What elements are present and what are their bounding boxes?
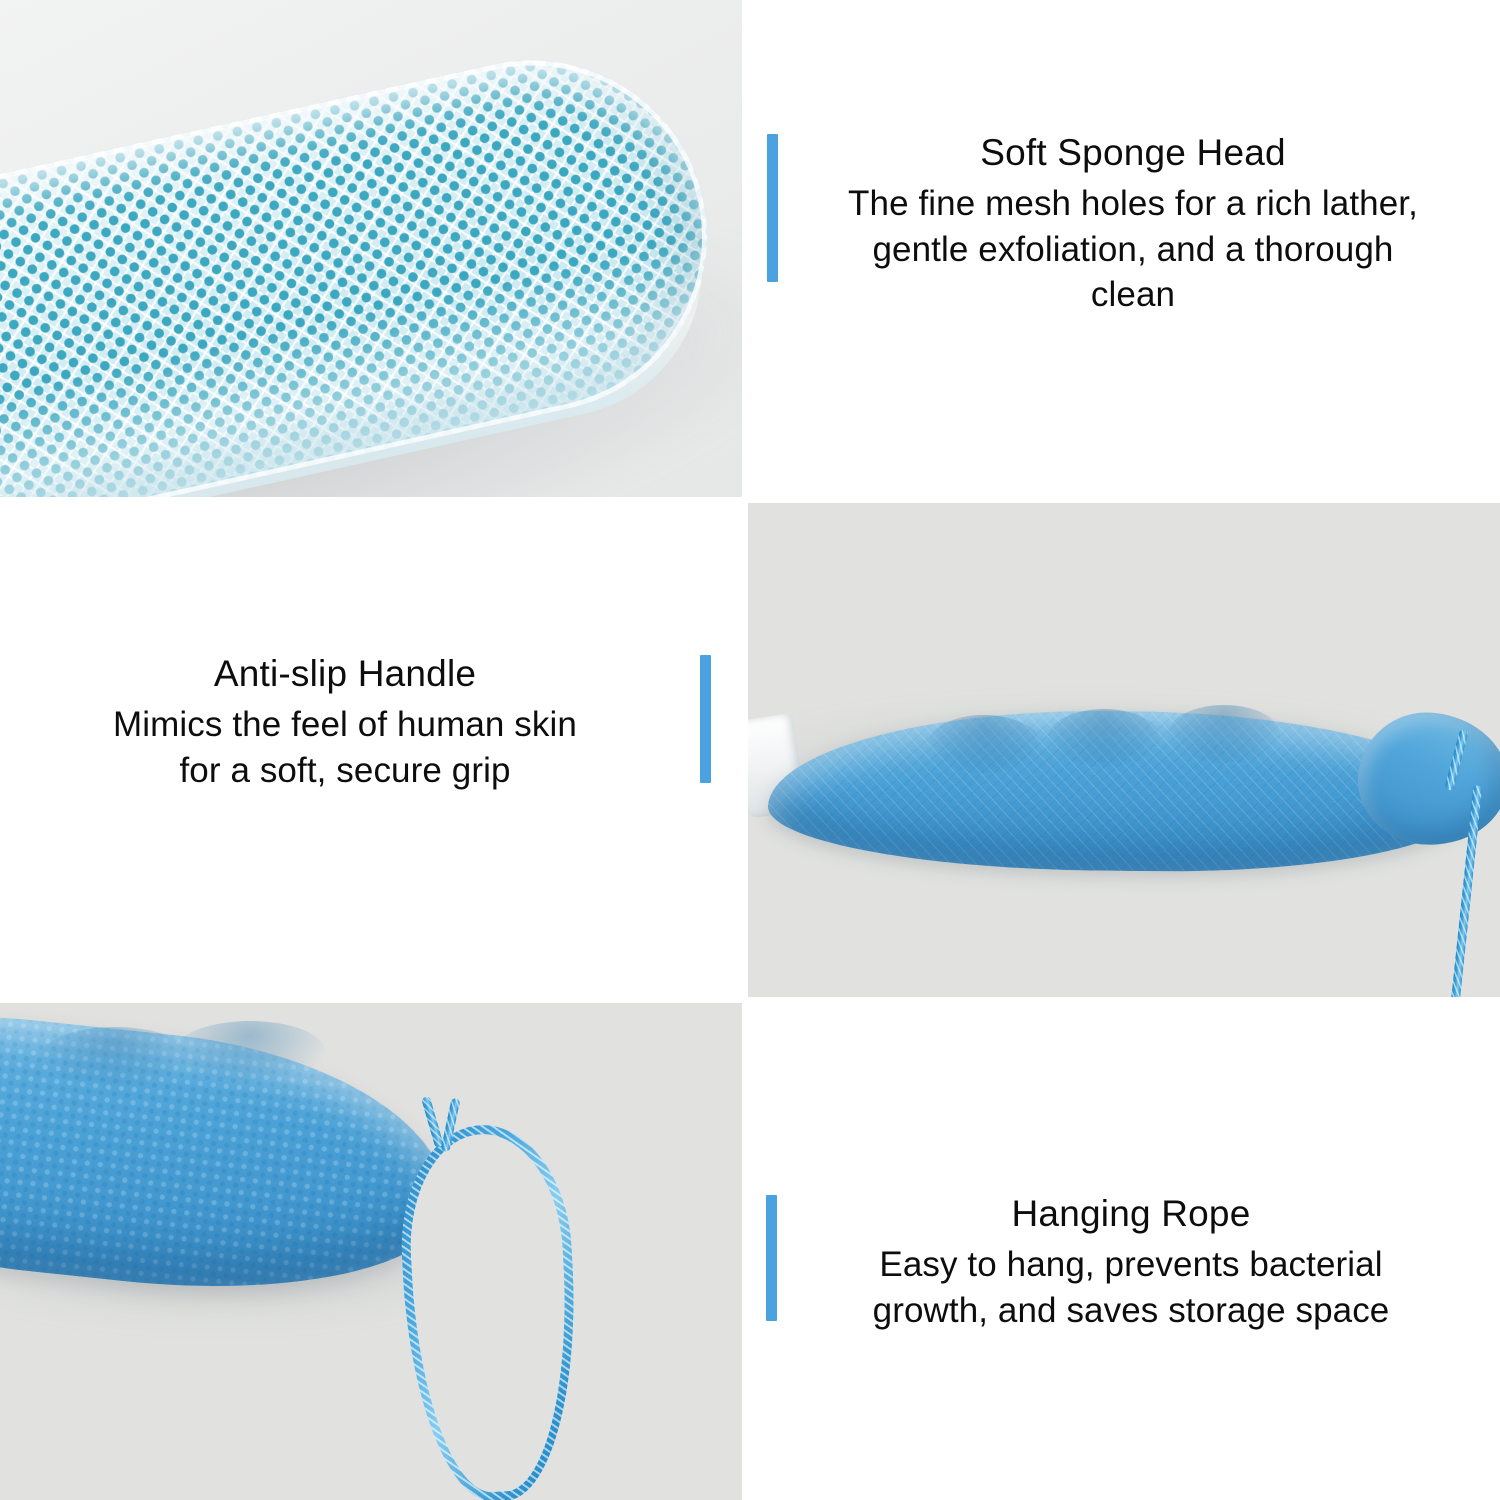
text-block-soft-sponge-head: Soft Sponge Head The fine mesh holes for…: [748, 0, 1500, 497]
finger-groove-2: [1048, 709, 1160, 767]
feature-desc-line-1: Easy to hang, prevents bacterial: [796, 1242, 1466, 1288]
accent-bar-hanging-rope: [766, 1195, 777, 1321]
accent-bar-soft-sponge-head: [767, 134, 778, 282]
text-block-hanging-rope: Hanging Rope Easy to hang, prevents bact…: [748, 1003, 1500, 1500]
feature-desc-line-3: clean: [798, 272, 1468, 318]
photo-hanging-rope: [0, 1003, 742, 1500]
feature-title-soft-sponge-head: Soft Sponge Head: [798, 130, 1468, 175]
finger-groove-3: [1168, 705, 1280, 763]
feature-title-anti-slip-handle: Anti-slip Handle: [20, 651, 670, 696]
finger-groove-2: [175, 1021, 325, 1081]
photo-anti-slip-handle: [748, 503, 1500, 997]
feature-desc-line-2: for a soft, secure grip: [20, 748, 670, 794]
finger-groove-1: [928, 715, 1040, 773]
text-block-anti-slip-handle: Anti-slip Handle Mimics the feel of huma…: [0, 503, 742, 997]
feature-desc-line-1: Mimics the feel of human skin: [20, 702, 670, 748]
feature-desc-line-2: gentle exfoliation, and a thorough: [798, 227, 1468, 273]
feature-desc-line-1: The fine mesh holes for a rich lather,: [798, 181, 1468, 227]
finger-groove-1: [40, 1027, 190, 1087]
product-feature-infographic: Soft Sponge Head The fine mesh holes for…: [0, 0, 1500, 1500]
feature-desc-line-2: growth, and saves storage space: [796, 1288, 1466, 1334]
photo-soft-sponge-head: [0, 0, 742, 497]
accent-bar-anti-slip-handle: [700, 655, 711, 783]
feature-title-hanging-rope: Hanging Rope: [796, 1191, 1466, 1236]
